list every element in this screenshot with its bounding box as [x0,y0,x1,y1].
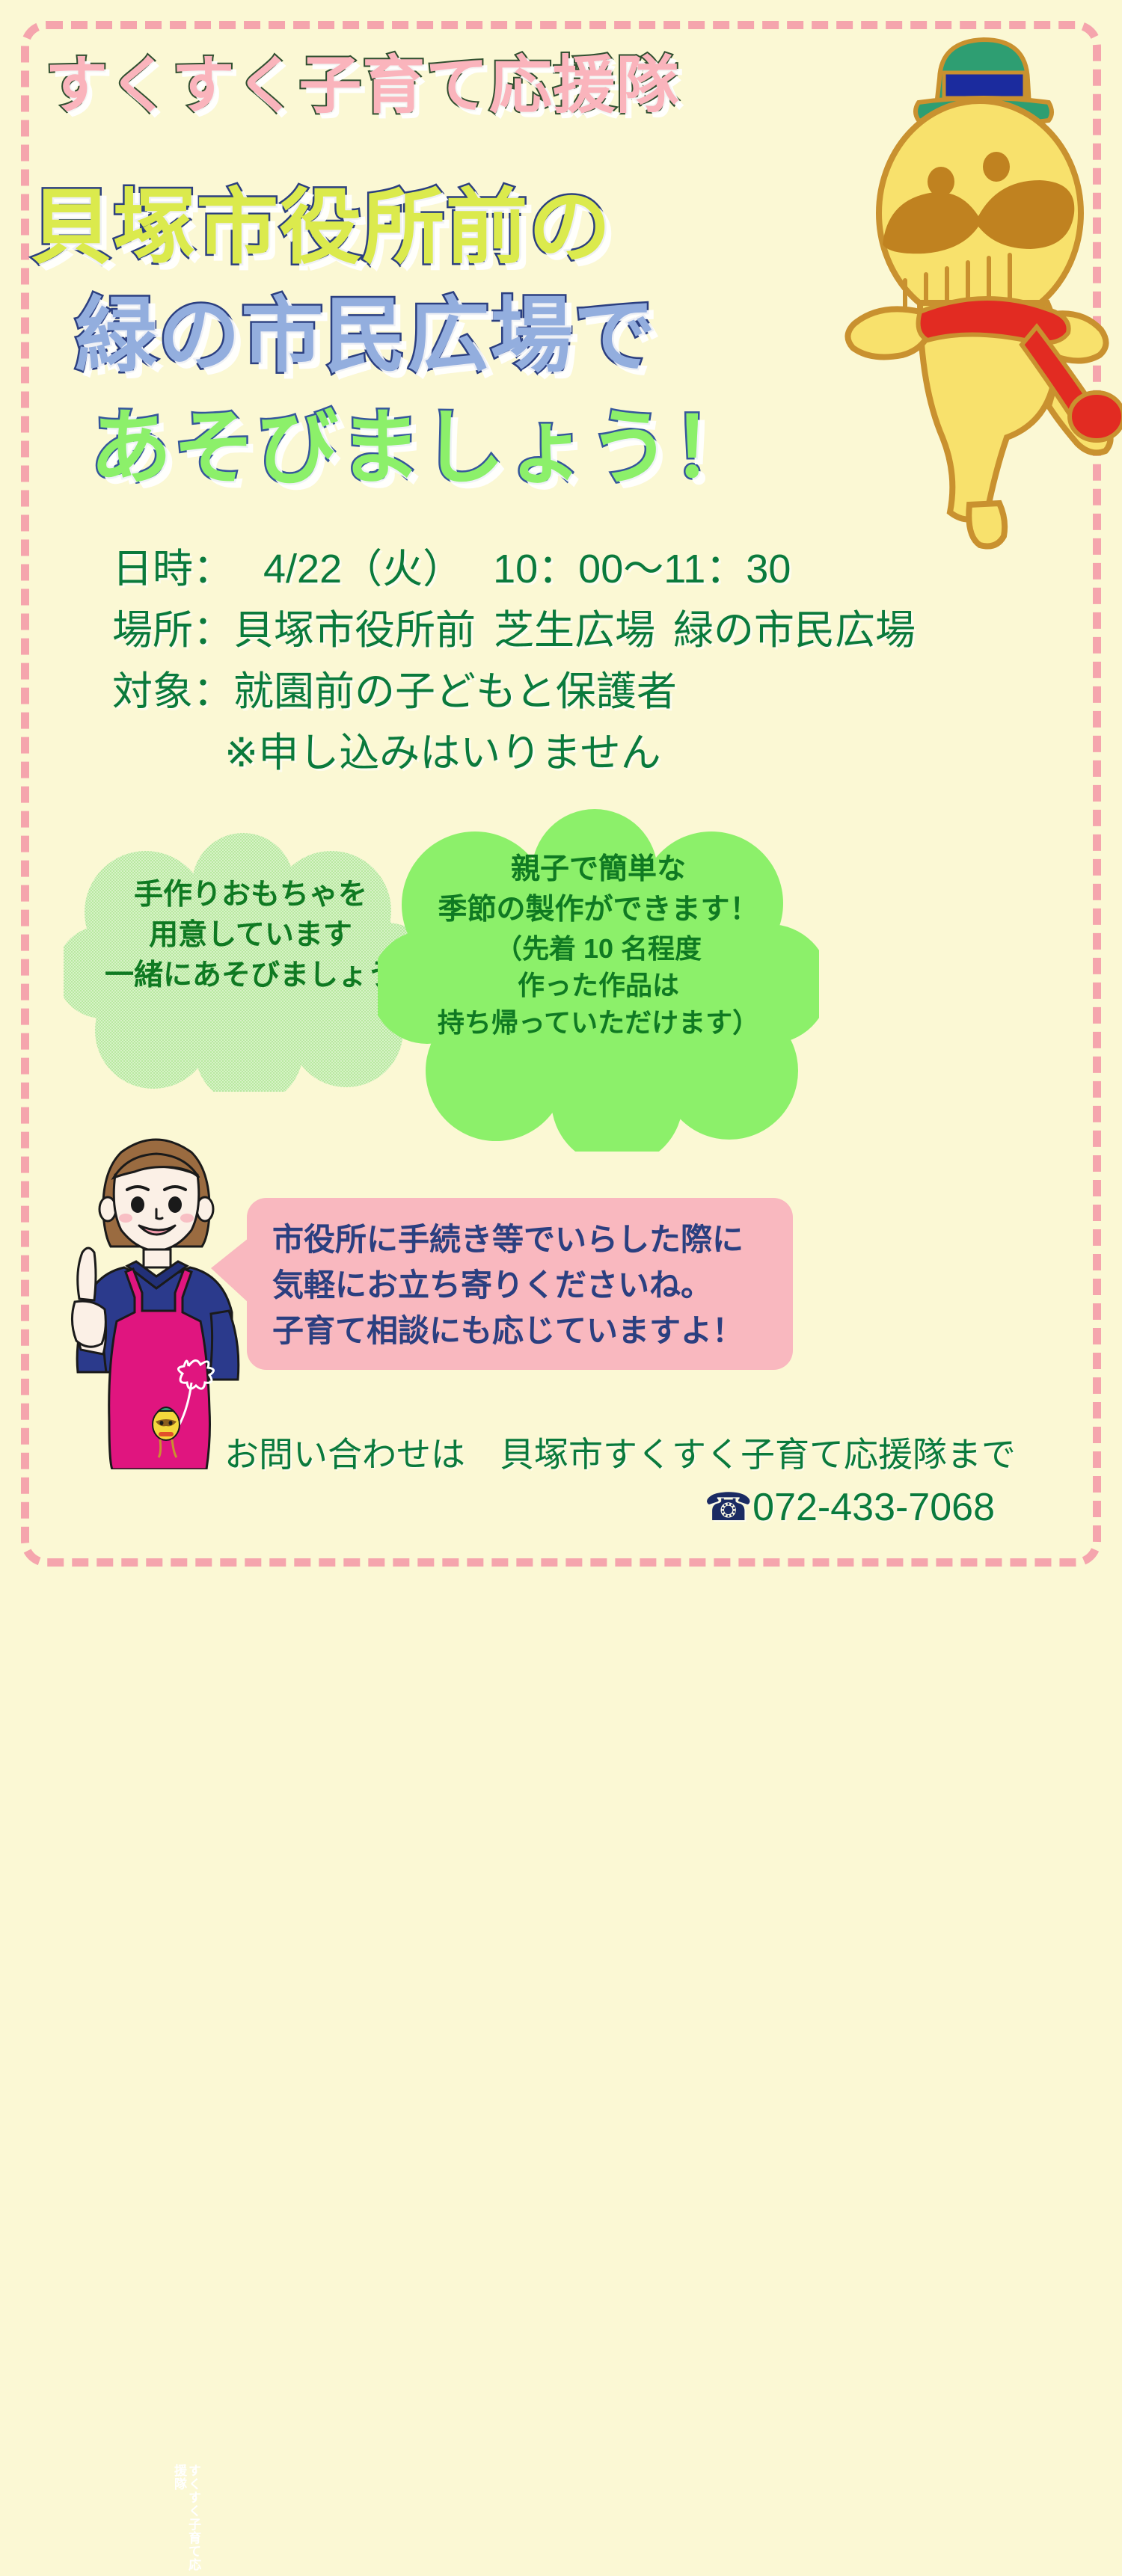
poster-root: すくすく子育て応援隊 貝塚市役所前の 緑の市民広場で あそびましょう！ [0,0,1122,1587]
detail-note: ※申し込みはいりません [112,722,995,784]
cloud-right-text: 親子で簡単な 季節の製作ができます！ （先着 10 名程度 作った作品は 持ち帰… [378,849,819,1042]
title-line-4: あそびましょう！ [90,408,860,490]
cloud-right-line-5: 持ち帰っていただけます） [378,1004,819,1042]
event-details: 日時：4/22（火）10：00〜11：30 場所：貝塚市役所前芝生広場緑の市民広… [112,538,995,784]
cloud-right-line-3: （先着 10 名程度 [378,930,819,968]
detail-target: 対象：就園前の子どもと保護者 [112,661,995,722]
place-value-3: 緑の市民広場 [673,608,916,653]
speech-line-1: 市役所に手続き等でいらした際に [272,1217,796,1263]
contact-phone[interactable]: ☎072-433-7068 [150,1480,1047,1536]
telephone-icon: ☎ [704,1486,752,1529]
cloud-right-line-1: 親子で簡単な [378,849,819,890]
speech-line-3: 子育て相談にも応じていますよ！ [272,1309,796,1354]
apron-label: すくすく子育て応援隊 [172,2464,200,2576]
target-value: 就園前の子どもと保護者 [233,669,677,714]
datetime-time: 10：00〜11：30 [493,547,791,591]
onion-mascot-icon [830,34,1122,550]
contact-block: お問い合わせは 貝塚市すくすく子育て応援隊まで ☎072-433-7068 [150,1430,1047,1536]
speech-text: 市役所に手続き等でいらした際に 気軽にお立ち寄りくださいね。 子育て相談にも応じ… [272,1217,796,1354]
title-line-3: 緑の市民広場で [75,295,845,378]
place-value: 貝塚市役所前 [233,608,476,653]
speech-bubble: 市役所に手続き等でいらした際に 気軽にお立ち寄りくださいね。 子育て相談にも応じ… [247,1198,793,1370]
datetime-label: 日時： [112,547,233,591]
speech-line-2: 気軽にお立ち寄りくださいね。 [272,1263,796,1309]
target-label: 対象： [112,669,233,714]
datetime-value: 4/22（火） [263,547,463,591]
mascot-illustration [830,34,1122,550]
cloud-bubble-right: 親子で簡単な 季節の製作ができます！ （先着 10 名程度 作った作品は 持ち帰… [378,808,819,1152]
title-line-2: 貝塚市役所前の [30,187,800,269]
title-line-1: すくすく子育て応援隊 [45,54,845,117]
place-label: 場所： [112,608,233,653]
telephone-number: 072-433-7068 [752,1486,995,1529]
detail-datetime: 日時：4/22（火）10：00〜11：30 [112,538,995,600]
cloud-right-line-2: 季節の製作ができます！ [378,890,819,930]
contact-line: お問い合わせは 貝塚市すくすく子育て応援隊まで [150,1430,1047,1480]
detail-place: 場所：貝塚市役所前芝生広場緑の市民広場 [112,600,995,661]
cloud-right-line-4: 作った作品は [378,967,819,1004]
place-value-2: 芝生広場 [494,608,655,653]
